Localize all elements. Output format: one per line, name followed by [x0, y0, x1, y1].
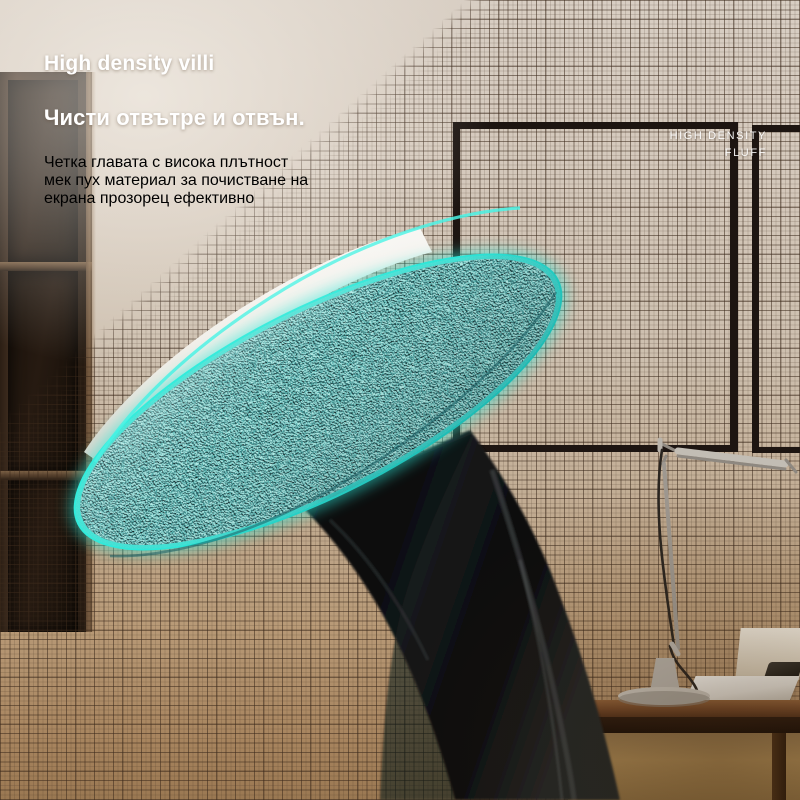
headline-bulgarian: Чисти отвътре и отвън.: [44, 105, 464, 130]
desk-leg: [772, 733, 786, 800]
desk-underside: [568, 733, 800, 800]
window-frame-bar: [752, 125, 759, 450]
watermark-line: FLUFF: [567, 145, 767, 162]
watermark-text: HIGH DENSITY FLUFF: [567, 128, 767, 162]
headline-english: High density villi: [44, 52, 464, 75]
subcopy-line: екрана прозорец ефективно: [44, 190, 464, 208]
subcopy-line: мек пух материал за почистване на: [44, 172, 464, 190]
subcopy-line: Четка главата с висока плътност: [44, 154, 464, 172]
product-banner: High density villi Чисти отвътре и отвън…: [0, 0, 800, 800]
copy-block: High density villi Чисти отвътре и отвън…: [44, 52, 464, 224]
window-frame-bar: [730, 122, 738, 452]
desk-lamp-icon: [600, 420, 800, 710]
desk-apron: [568, 717, 800, 733]
watermark-line: HIGH DENSITY: [567, 128, 767, 145]
